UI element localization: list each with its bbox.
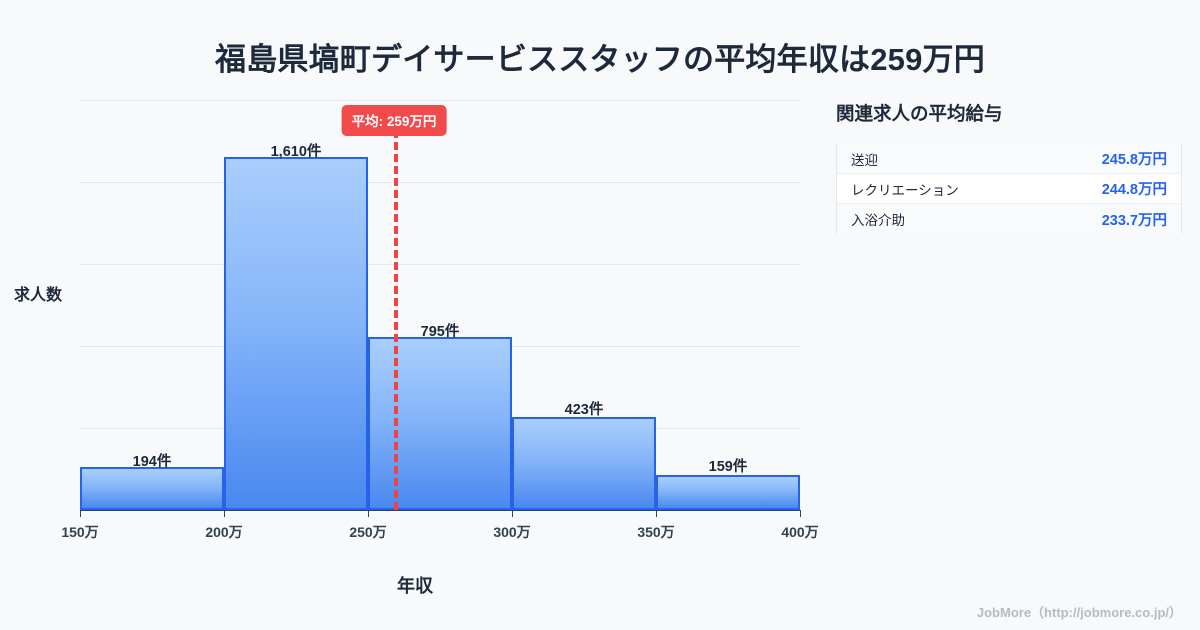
average-line bbox=[394, 130, 398, 510]
panel-title: 関連求人の平均給与 bbox=[836, 100, 1182, 126]
row-label: レクリエーション bbox=[851, 179, 959, 199]
x-axis-label: 200万 bbox=[205, 522, 242, 542]
x-axis-tick bbox=[512, 510, 513, 517]
bar-value-label: 795件 bbox=[421, 320, 460, 341]
x-axis-tick bbox=[224, 510, 225, 517]
bar-value-label: 194件 bbox=[133, 450, 172, 471]
related-salary-table: 送迎 245.8万円 レクリエーション 244.8万円 入浴介助 233.7万円 bbox=[836, 144, 1182, 234]
row-label: 送迎 bbox=[851, 149, 878, 169]
histogram-chart: 求人数 194件 1,610件 795件 423件 159件 平均: 259万円… bbox=[0, 0, 830, 630]
x-axis-label: 350万 bbox=[637, 522, 674, 542]
x-axis-title: 年収 bbox=[0, 572, 830, 598]
x-axis-line bbox=[80, 510, 800, 511]
table-row: 入浴介助 233.7万円 bbox=[837, 204, 1181, 234]
table-row: レクリエーション 244.8万円 bbox=[837, 174, 1181, 204]
bar-bin-4 bbox=[512, 417, 656, 510]
average-badge: 平均: 259万円 bbox=[342, 105, 447, 136]
x-axis-label: 300万 bbox=[493, 522, 530, 542]
row-label: 入浴介助 bbox=[851, 209, 905, 229]
x-axis-tick bbox=[368, 510, 369, 517]
bar-bin-3 bbox=[368, 337, 512, 510]
footer-attribution: JobMore（http://jobmore.co.jp/） bbox=[977, 602, 1182, 621]
row-value: 245.8万円 bbox=[1102, 148, 1167, 169]
bar-bin-2 bbox=[224, 157, 368, 510]
table-row: 送迎 245.8万円 bbox=[837, 144, 1181, 174]
x-axis-label: 250万 bbox=[349, 522, 386, 542]
infographic-root: 福島県塙町デイサービススタッフの平均年収は259万円 求人数 194件 1,61… bbox=[0, 0, 1200, 630]
row-value: 233.7万円 bbox=[1102, 209, 1167, 230]
x-axis-tick bbox=[656, 510, 657, 517]
x-axis-label: 150万 bbox=[61, 522, 98, 542]
bar-value-label: 423件 bbox=[565, 398, 604, 419]
y-axis-title: 求人数 bbox=[14, 281, 62, 305]
x-axis-tick bbox=[80, 510, 81, 517]
bar-bin-5 bbox=[656, 475, 800, 510]
row-value: 244.8万円 bbox=[1102, 178, 1167, 199]
bar-bin-1 bbox=[80, 467, 224, 510]
bar-value-label: 1,610件 bbox=[271, 140, 322, 161]
x-axis-tick bbox=[800, 510, 801, 517]
x-axis-label: 400万 bbox=[781, 522, 818, 542]
bar-value-label: 159件 bbox=[709, 455, 748, 476]
related-salary-panel: 関連求人の平均給与 送迎 245.8万円 レクリエーション 244.8万円 入浴… bbox=[836, 100, 1182, 234]
plot-area bbox=[80, 100, 800, 510]
